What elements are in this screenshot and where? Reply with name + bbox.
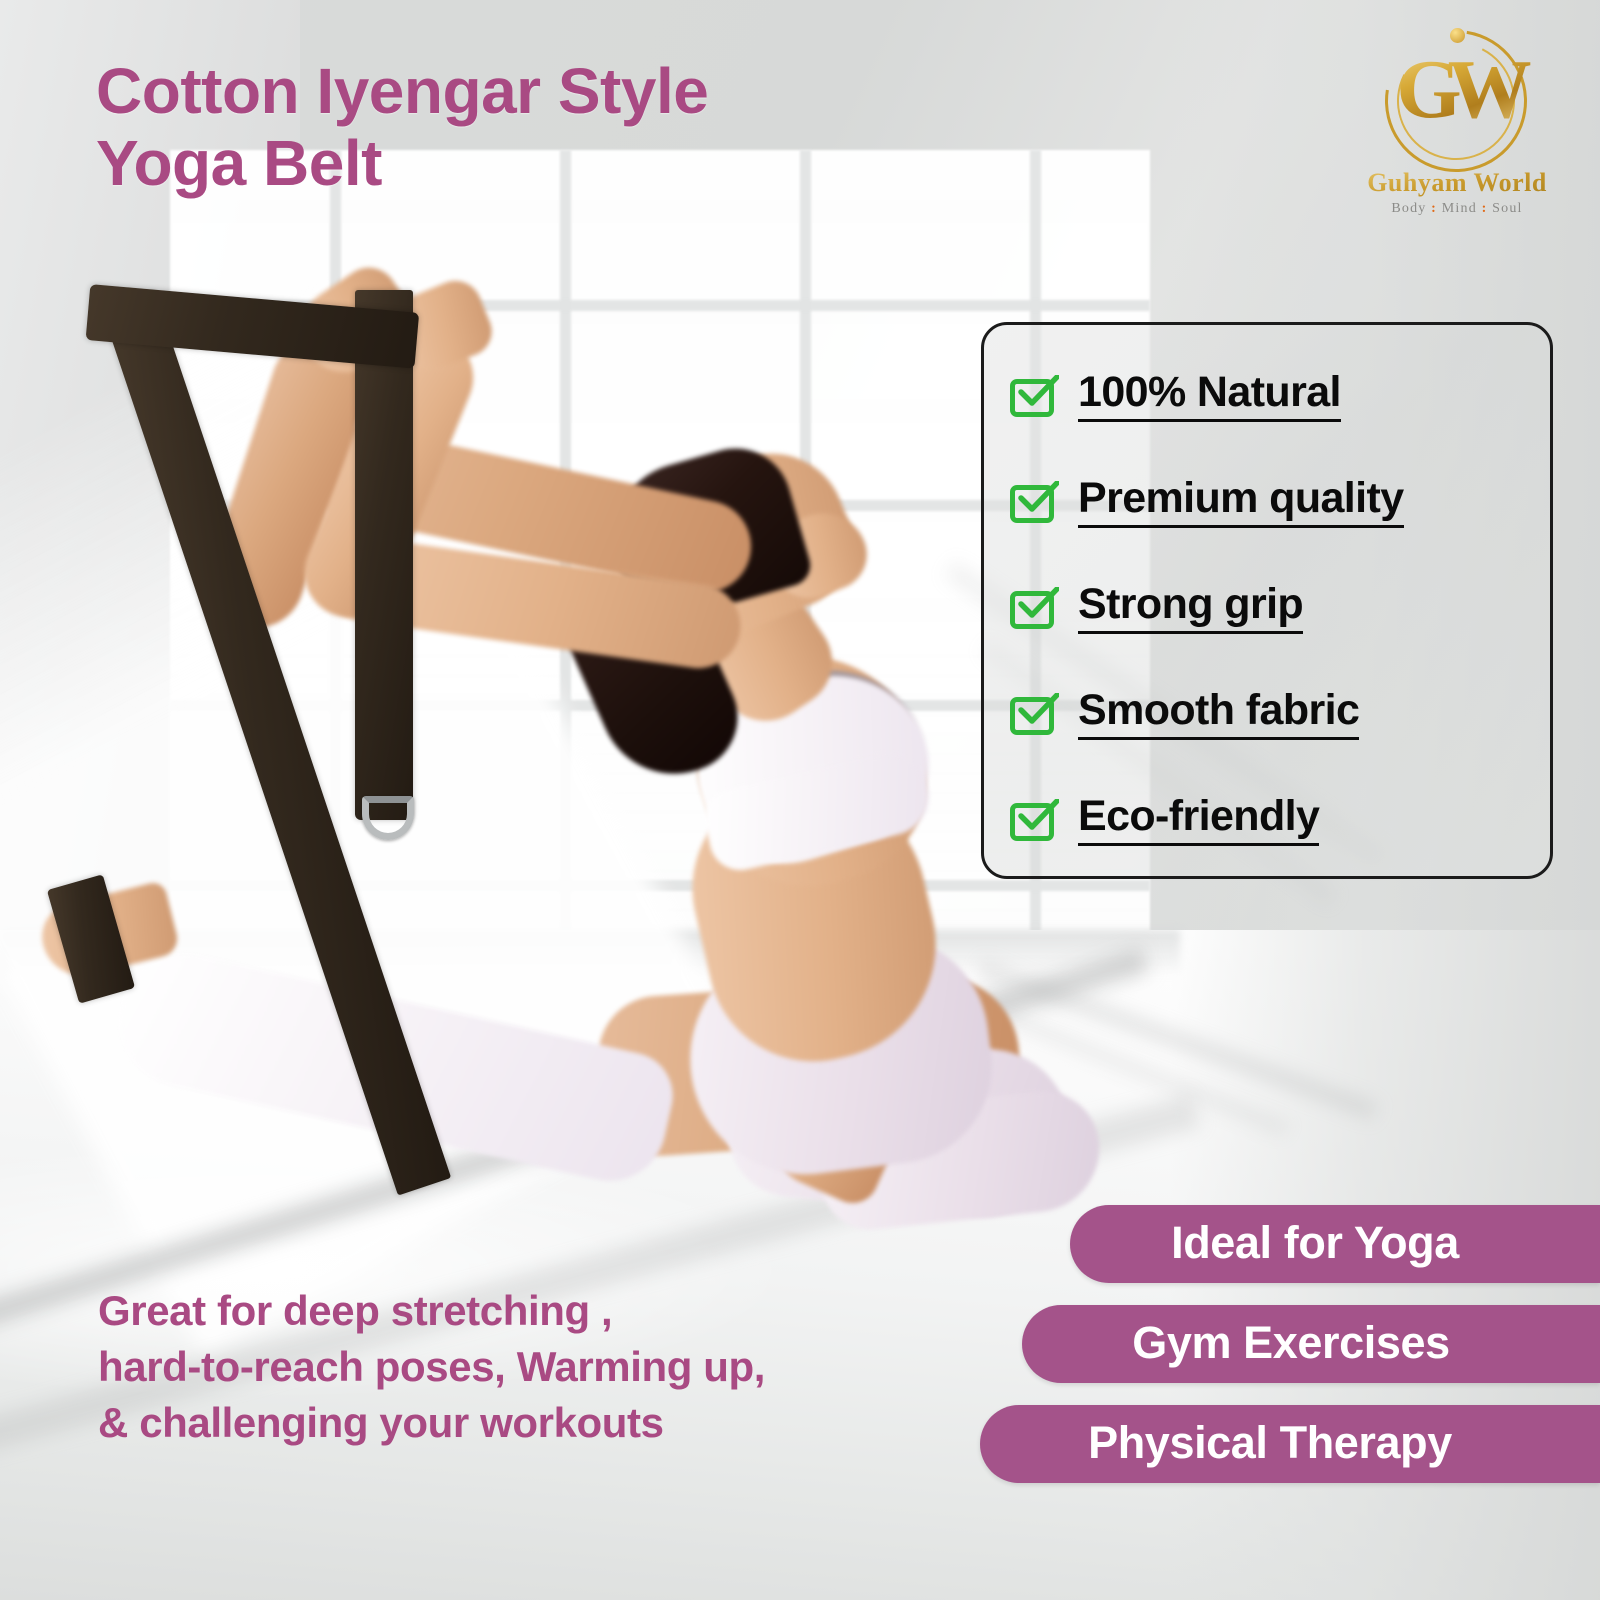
brand-name: Guhyam World [1342, 168, 1572, 198]
logo-monogram-mark: GW [1373, 22, 1541, 172]
badge-gym-exercises: Gym Exercises [1022, 1305, 1600, 1383]
badge-ideal-for-yoga: Ideal for Yoga [1070, 1205, 1600, 1283]
benefit-line-2: hard-to-reach poses, Warming up, [98, 1339, 998, 1395]
d-ring-buckle-icon [362, 796, 414, 840]
tagline-body: Body [1391, 201, 1426, 216]
page-title-line-2: Yoga Belt [96, 128, 1016, 200]
page-title: Cotton Iyengar Style Yoga Belt [96, 56, 1016, 199]
benefit-line-3: & challenging your workouts [98, 1395, 998, 1451]
brand-tagline: Body : Mind : Soul [1342, 201, 1572, 217]
logo-monogram-text: GW [1373, 48, 1541, 132]
feature-item: Eco-friendly [1010, 767, 1550, 873]
feature-label: Strong grip [1078, 582, 1303, 634]
benefit-description: Great for deep stretching , hard-to-reac… [98, 1283, 998, 1451]
yoga-model-photo [0, 240, 1120, 1250]
feature-item: 100% Natural [1010, 343, 1550, 449]
ad-canvas: Cotton Iyengar Style Yoga Belt GW Guhyam… [0, 0, 1600, 1600]
checkbox-checked-icon [1010, 693, 1058, 735]
brand-logo: GW Guhyam World Body : Mind : Soul [1342, 22, 1572, 227]
feature-label: Smooth fabric [1078, 688, 1359, 740]
feature-item: Strong grip [1010, 555, 1550, 661]
badge-physical-therapy: Physical Therapy [980, 1405, 1600, 1483]
feature-item: Premium quality [1010, 449, 1550, 555]
feature-label: Eco-friendly [1078, 794, 1319, 846]
tagline-separator: : [1482, 201, 1488, 216]
use-case-badges: Ideal for Yoga Gym Exercises Physical Th… [980, 1205, 1600, 1483]
tagline-separator: : [1431, 201, 1437, 216]
tagline-mind: Mind [1442, 201, 1477, 216]
checkbox-checked-icon [1010, 481, 1058, 523]
tagline-soul: Soul [1492, 201, 1522, 216]
yoga-strap-vertical [355, 290, 413, 820]
checkbox-checked-icon [1010, 587, 1058, 629]
feature-list-box: 100% Natural Premium quality Strong grip [981, 322, 1553, 879]
checkbox-checked-icon [1010, 799, 1058, 841]
feature-label: 100% Natural [1078, 370, 1341, 422]
benefit-line-1: Great for deep stretching , [98, 1283, 998, 1339]
feature-label: Premium quality [1078, 476, 1404, 528]
feature-item: Smooth fabric [1010, 661, 1550, 767]
checkbox-checked-icon [1010, 375, 1058, 417]
page-title-line-1: Cotton Iyengar Style [96, 55, 708, 127]
logo-dot-icon [1450, 28, 1465, 43]
